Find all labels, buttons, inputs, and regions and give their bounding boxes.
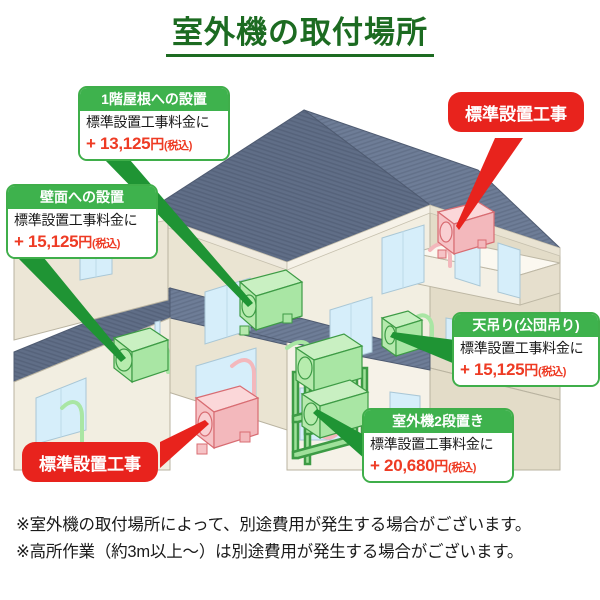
callout-ceiling-hang-body: 標準設置工事料金に + 15,125円(税込) bbox=[454, 337, 598, 385]
callout-roof-1f-tax: (税込) bbox=[164, 140, 192, 152]
infographic-canvas: 室外機の取付場所 bbox=[0, 0, 600, 600]
callout-wall-header: 壁面への設置 bbox=[8, 186, 156, 209]
callout-ceiling-hang-yen: 円 bbox=[524, 362, 538, 378]
badge-standard-top[interactable]: 標準設置工事 bbox=[448, 92, 584, 132]
callout-wall-line1: 標準設置工事料金に bbox=[14, 212, 150, 230]
callout-two-tier-tax: (税込) bbox=[448, 462, 476, 474]
callout-wall-yen: 円 bbox=[78, 234, 92, 250]
badge-standard-bottom-label: 標準設置工事 bbox=[39, 450, 141, 475]
callout-ceiling-hang-header: 天吊り(公団吊り) bbox=[454, 314, 598, 337]
callout-ceiling-hang-amount: + 15,125 bbox=[460, 360, 524, 379]
callout-two-tier-price: + 20,680円(税込) bbox=[370, 455, 506, 476]
callout-roof-1f-price: + 13,125円(税込) bbox=[86, 133, 222, 154]
callout-roof-1f-amount: + 13,125 bbox=[86, 134, 150, 153]
callout-ceiling-hang-price: + 15,125円(税込) bbox=[460, 359, 592, 380]
callout-wall-tax: (税込) bbox=[92, 238, 120, 250]
callout-wall-price: + 15,125円(税込) bbox=[14, 231, 150, 252]
footer-note-2: ※高所作業（約3m以上〜）は別途費用が発生する場合がございます。 bbox=[16, 539, 596, 566]
callout-ceiling-hang-tax: (税込) bbox=[538, 366, 566, 378]
callout-ceiling-hang-line1: 標準設置工事料金に bbox=[460, 340, 592, 358]
callout-roof-1f[interactable]: 1階屋根への設置 標準設置工事料金に + 13,125円(税込) bbox=[78, 86, 230, 161]
callout-roof-1f-body: 標準設置工事料金に + 13,125円(税込) bbox=[80, 111, 228, 159]
callout-wall[interactable]: 壁面への設置 標準設置工事料金に + 15,125円(税込) bbox=[6, 184, 158, 259]
footer-notes: ※室外機の取付場所によって、別途費用が発生する場合がございます。 ※高所作業（約… bbox=[16, 512, 596, 565]
ground-unit bbox=[196, 386, 258, 454]
callout-wall-amount: + 15,125 bbox=[14, 232, 78, 251]
callout-two-tier-body: 標準設置工事料金に + 20,680円(税込) bbox=[364, 433, 512, 481]
callout-two-tier-line1: 標準設置工事料金に bbox=[370, 436, 506, 454]
callout-roof-1f-line1: 標準設置工事料金に bbox=[86, 114, 222, 132]
callout-two-tier[interactable]: 室外機2段置き 標準設置工事料金に + 20,680円(税込) bbox=[362, 408, 514, 483]
callout-roof-1f-yen: 円 bbox=[150, 136, 164, 152]
callout-two-tier-yen: 円 bbox=[434, 458, 448, 474]
badge-standard-bottom[interactable]: 標準設置工事 bbox=[22, 442, 158, 482]
callout-wall-body: 標準設置工事料金に + 15,125円(税込) bbox=[8, 209, 156, 257]
callout-roof-1f-header: 1階屋根への設置 bbox=[80, 88, 228, 111]
badge-standard-top-label: 標準設置工事 bbox=[465, 100, 567, 125]
callout-two-tier-amount: + 20,680 bbox=[370, 456, 434, 475]
callout-two-tier-header: 室外機2段置き bbox=[364, 410, 512, 433]
callout-ceiling-hang[interactable]: 天吊り(公団吊り) 標準設置工事料金に + 15,125円(税込) bbox=[452, 312, 600, 387]
footer-note-1: ※室外機の取付場所によって、別途費用が発生する場合がございます。 bbox=[16, 512, 596, 539]
